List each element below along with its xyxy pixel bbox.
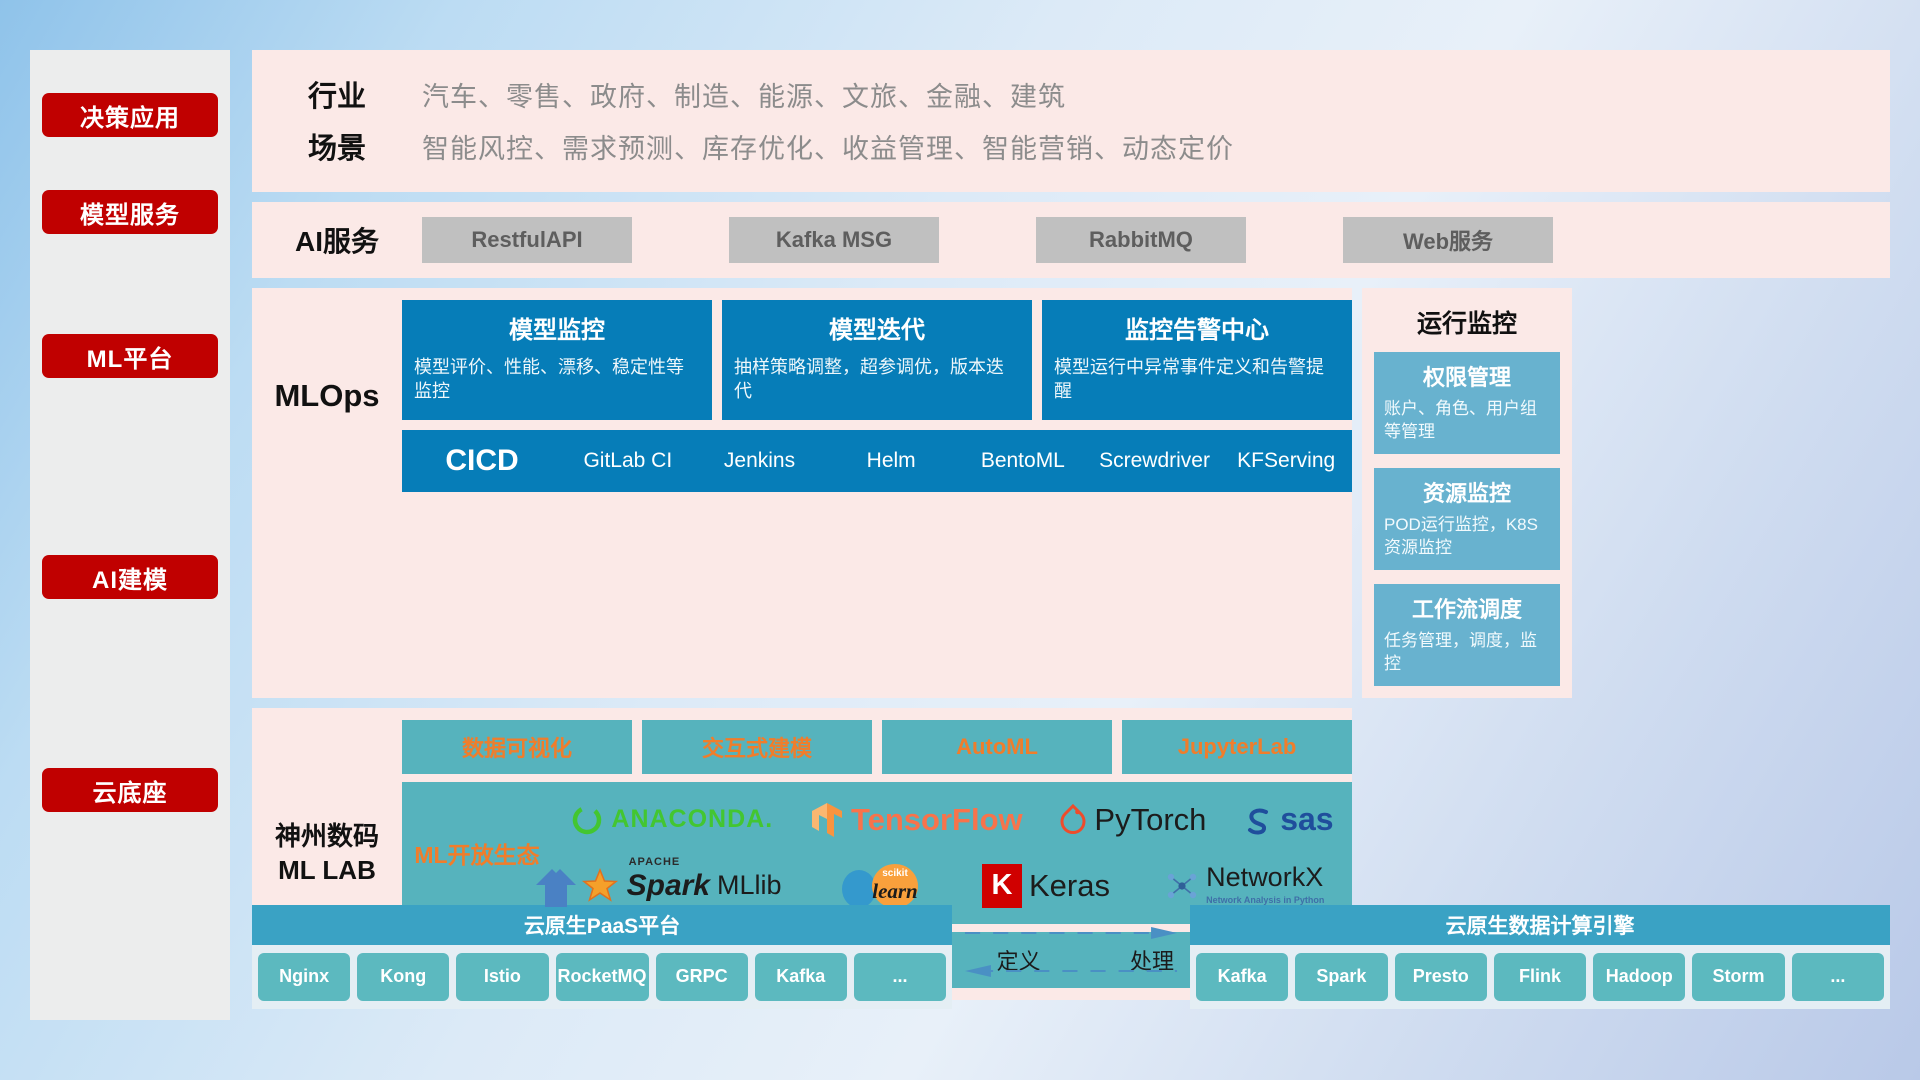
architecture-main: 行业 汽车、零售、政府、制造、能源、文旅、金融、建筑 场景 智能风控、需求预测、… bbox=[252, 50, 1890, 1000]
ml-lab-tool-automl[interactable]: AutoML bbox=[882, 720, 1112, 774]
runtime-monitoring-panel: 运行监控 权限管理 账户、角色、用户组等管理 资源监控 POD运行监控，K8S资… bbox=[1362, 288, 1572, 698]
keras-logo: K Keras bbox=[982, 864, 1110, 908]
keras-k-badge: K bbox=[982, 864, 1022, 908]
svg-text:scikit: scikit bbox=[882, 868, 908, 879]
ml-lab-label-line2: ML LAB bbox=[252, 854, 402, 888]
cicd-item-bentoml[interactable]: BentoML bbox=[957, 450, 1089, 472]
networkx-logo: NetworkX Network Analysis in Python bbox=[1165, 864, 1324, 907]
industry-row: 行业 汽车、零售、政府、制造、能源、文旅、金融、建筑 bbox=[252, 68, 1890, 120]
cicd-bar: CICD GitLab CI Jenkins Helm BentoML Scre… bbox=[402, 430, 1352, 492]
mlops-card-alert-center[interactable]: 监控告警中心 模型运行中异常事件定义和告警提醒 bbox=[1042, 300, 1352, 420]
cloud-paas-chip-list: Nginx Kong Istio RocketMQ GRPC Kafka ... bbox=[252, 945, 952, 1009]
ml-platform-row: MLOps 模型监控 模型评价、性能、漂移、稳定性等监控 模型迭代 抽样策略调整… bbox=[252, 288, 1890, 698]
cloud-base-row: 云原生PaaS平台 Nginx Kong Istio RocketMQ GRPC… bbox=[252, 905, 1890, 1020]
ai-service-chip-kafka-msg[interactable]: Kafka MSG bbox=[729, 217, 939, 263]
rail-item-label: ML平台 bbox=[87, 339, 174, 374]
pytorch-label: PyTorch bbox=[1094, 802, 1206, 838]
card-desc: 模型运行中异常事件定义和告警提醒 bbox=[1054, 355, 1340, 404]
cloud-connector-gap bbox=[952, 905, 1190, 1020]
rail-item-label: 云底座 bbox=[93, 773, 168, 808]
cloud-engine-title: 云原生数据计算引擎 bbox=[1190, 905, 1890, 945]
runtime-monitoring-title: 运行监控 bbox=[1374, 298, 1560, 352]
cloud-chip-rocketmq[interactable]: RocketMQ bbox=[556, 953, 649, 1001]
rail-item-ml-platform[interactable]: ML平台 bbox=[42, 334, 218, 378]
mllib-label: MLlib bbox=[717, 870, 782, 901]
ml-lab-label: 神州数码 ML LAB bbox=[252, 820, 402, 888]
rail-item-ai-modeling[interactable]: AI建模 bbox=[42, 555, 218, 599]
cicd-item-kfserving[interactable]: KFServing bbox=[1220, 450, 1352, 472]
cicd-item-list: GitLab CI Jenkins Helm BentoML Screwdriv… bbox=[562, 450, 1352, 472]
monitor-card-resource-monitoring[interactable]: 资源监控 POD运行监控，K8S资源监控 bbox=[1374, 468, 1560, 570]
mlops-label: MLOps bbox=[252, 300, 402, 492]
networkx-subtitle: Network Analysis in Python bbox=[1206, 895, 1324, 905]
card-desc: 抽样策略调整，超参调优，版本迭代 bbox=[734, 355, 1020, 404]
industry-value: 汽车、零售、政府、制造、能源、文旅、金融、建筑 bbox=[422, 75, 1066, 114]
tensorflow-icon bbox=[810, 801, 844, 839]
ml-lab-tool-jupyterlab[interactable]: JupyterLab bbox=[1122, 720, 1352, 774]
ml-lab-tool-interactive-modeling[interactable]: 交互式建模 bbox=[642, 720, 872, 774]
rail-item-model-service[interactable]: 模型服务 bbox=[42, 190, 218, 234]
cloud-chip-istio[interactable]: Istio bbox=[456, 953, 548, 1001]
sas-icon bbox=[1243, 805, 1273, 835]
cicd-title: CICD bbox=[402, 444, 562, 478]
engine-chip-flink[interactable]: Flink bbox=[1494, 953, 1586, 1001]
networkx-icon bbox=[1165, 869, 1199, 903]
rail-item-cloud-base[interactable]: 云底座 bbox=[42, 768, 218, 812]
tensorflow-logo: TensorFlow bbox=[810, 801, 1023, 839]
engine-chip-storm[interactable]: Storm bbox=[1692, 953, 1784, 1001]
mlops-card-model-iteration[interactable]: 模型迭代 抽样策略调整，超参调优，版本迭代 bbox=[722, 300, 1032, 420]
cicd-item-helm[interactable]: Helm bbox=[825, 450, 957, 472]
spark-mllib-logo: APACHE Spark MLlib bbox=[580, 866, 782, 906]
engine-chip-presto[interactable]: Presto bbox=[1395, 953, 1487, 1001]
scikit-learn-icon: scikit learn bbox=[837, 862, 927, 910]
monitor-card-permission-management[interactable]: 权限管理 账户、角色、用户组等管理 bbox=[1374, 352, 1560, 454]
cloud-chip-more[interactable]: ... bbox=[854, 953, 946, 1001]
sas-label: sas bbox=[1280, 801, 1333, 838]
card-title: 监控告警中心 bbox=[1054, 310, 1340, 345]
card-title: 模型迭代 bbox=[734, 310, 1020, 345]
cloud-engine-chip-list: Kafka Spark Presto Flink Hadoop Storm ..… bbox=[1190, 945, 1890, 1009]
rail-item-label: AI建模 bbox=[92, 560, 168, 595]
sas-logo: sas bbox=[1243, 801, 1333, 838]
scikit-learn-logo: scikit learn bbox=[837, 862, 927, 910]
card-desc: 模型评价、性能、漂移、稳定性等监控 bbox=[414, 355, 700, 404]
mlops-card-list: 模型监控 模型评价、性能、漂移、稳定性等监控 模型迭代 抽样策略调整，超参调优，… bbox=[402, 300, 1352, 420]
card-title: 资源监控 bbox=[1384, 476, 1550, 508]
rail-item-label: 决策应用 bbox=[80, 98, 180, 133]
spark-star-icon bbox=[580, 866, 620, 906]
cloud-engine-block: 云原生数据计算引擎 Kafka Spark Presto Flink Hadoo… bbox=[1190, 905, 1890, 1009]
monitor-card-workflow-scheduling[interactable]: 工作流调度 任务管理，调度，监控 bbox=[1374, 584, 1560, 686]
card-desc: POD运行监控，K8S资源监控 bbox=[1384, 514, 1550, 560]
ai-service-chip-list: RestfulAPI Kafka MSG RabbitMQ Web服务 bbox=[422, 217, 1890, 263]
mlops-band: MLOps 模型监控 模型评价、性能、漂移、稳定性等监控 模型迭代 抽样策略调整… bbox=[252, 288, 1352, 698]
spark-apache-label: APACHE bbox=[629, 856, 681, 868]
pytorch-logo: PyTorch bbox=[1059, 802, 1206, 838]
ml-open-ecosystem-label: ML开放生态 bbox=[402, 836, 552, 870]
scenario-value: 智能风控、需求预测、库存优化、收益管理、智能营销、动态定价 bbox=[422, 127, 1234, 166]
card-title: 权限管理 bbox=[1384, 360, 1550, 392]
anaconda-logo: ANACONDA. bbox=[570, 803, 773, 837]
spark-label: Spark bbox=[627, 869, 710, 902]
ml-lab-tool-data-visualization[interactable]: 数据可视化 bbox=[402, 720, 632, 774]
cloud-chip-grpc[interactable]: GRPC bbox=[656, 953, 748, 1001]
card-title: 模型监控 bbox=[414, 310, 700, 345]
ai-service-chip-restfulapi[interactable]: RestfulAPI bbox=[422, 217, 632, 263]
cicd-item-screwdriver[interactable]: Screwdriver bbox=[1089, 450, 1221, 472]
card-desc: 账户、角色、用户组等管理 bbox=[1384, 398, 1550, 444]
cloud-chip-kafka[interactable]: Kafka bbox=[755, 953, 847, 1001]
scenario-label: 场景 bbox=[252, 125, 422, 167]
rail-item-decision-apps[interactable]: 决策应用 bbox=[42, 93, 218, 137]
cicd-item-gitlab-ci[interactable]: GitLab CI bbox=[562, 450, 694, 472]
engine-chip-hadoop[interactable]: Hadoop bbox=[1593, 953, 1685, 1001]
rail-item-label: 模型服务 bbox=[80, 195, 180, 230]
cloud-paas-block: 云原生PaaS平台 Nginx Kong Istio RocketMQ GRPC… bbox=[252, 905, 952, 1009]
card-title: 工作流调度 bbox=[1384, 592, 1550, 624]
ml-lab-label-line1: 神州数码 bbox=[252, 820, 402, 854]
engine-chip-kafka[interactable]: Kafka bbox=[1196, 953, 1288, 1001]
engine-chip-spark[interactable]: Spark bbox=[1295, 953, 1387, 1001]
stack-layer-rail: 决策应用 模型服务 ML平台 AI建模 云底座 bbox=[30, 50, 230, 1020]
cicd-item-jenkins[interactable]: Jenkins bbox=[694, 450, 826, 472]
tensorflow-label: TensorFlow bbox=[851, 802, 1023, 838]
svg-text:learn: learn bbox=[872, 879, 918, 903]
industry-label: 行业 bbox=[252, 73, 422, 115]
anaconda-label: ANACONDA. bbox=[611, 805, 773, 834]
scenario-row: 场景 智能风控、需求预测、库存优化、收益管理、智能营销、动态定价 bbox=[252, 120, 1890, 172]
pytorch-icon bbox=[1059, 803, 1087, 837]
ecosystem-logo-row-1: ANACONDA. TensorFlow bbox=[552, 788, 1352, 852]
card-desc: 任务管理，调度，监控 bbox=[1384, 630, 1550, 676]
networkx-label: NetworkX bbox=[1206, 862, 1323, 892]
ai-service-chip-web-service[interactable]: Web服务 bbox=[1343, 217, 1553, 263]
ai-service-label: AI服务 bbox=[252, 220, 422, 260]
keras-label: Keras bbox=[1029, 868, 1110, 904]
mlops-card-model-monitoring[interactable]: 模型监控 模型评价、性能、漂移、稳定性等监控 bbox=[402, 300, 712, 420]
ai-service-band: AI服务 RestfulAPI Kafka MSG RabbitMQ Web服务 bbox=[252, 202, 1890, 278]
cloud-exchange-arrows-icon bbox=[952, 905, 1190, 1015]
cloud-paas-title: 云原生PaaS平台 bbox=[252, 905, 952, 945]
decision-apps-band: 行业 汽车、零售、政府、制造、能源、文旅、金融、建筑 场景 智能风控、需求预测、… bbox=[252, 50, 1890, 192]
cloud-chip-kong[interactable]: Kong bbox=[357, 953, 449, 1001]
engine-chip-more[interactable]: ... bbox=[1792, 953, 1884, 1001]
anaconda-icon bbox=[570, 803, 604, 837]
ai-service-chip-rabbitmq[interactable]: RabbitMQ bbox=[1036, 217, 1246, 263]
engine-up-arrow-icon bbox=[542, 869, 578, 905]
cloud-chip-nginx[interactable]: Nginx bbox=[258, 953, 350, 1001]
ml-lab-tool-list: 数据可视化 交互式建模 AutoML JupyterLab bbox=[402, 720, 1352, 774]
